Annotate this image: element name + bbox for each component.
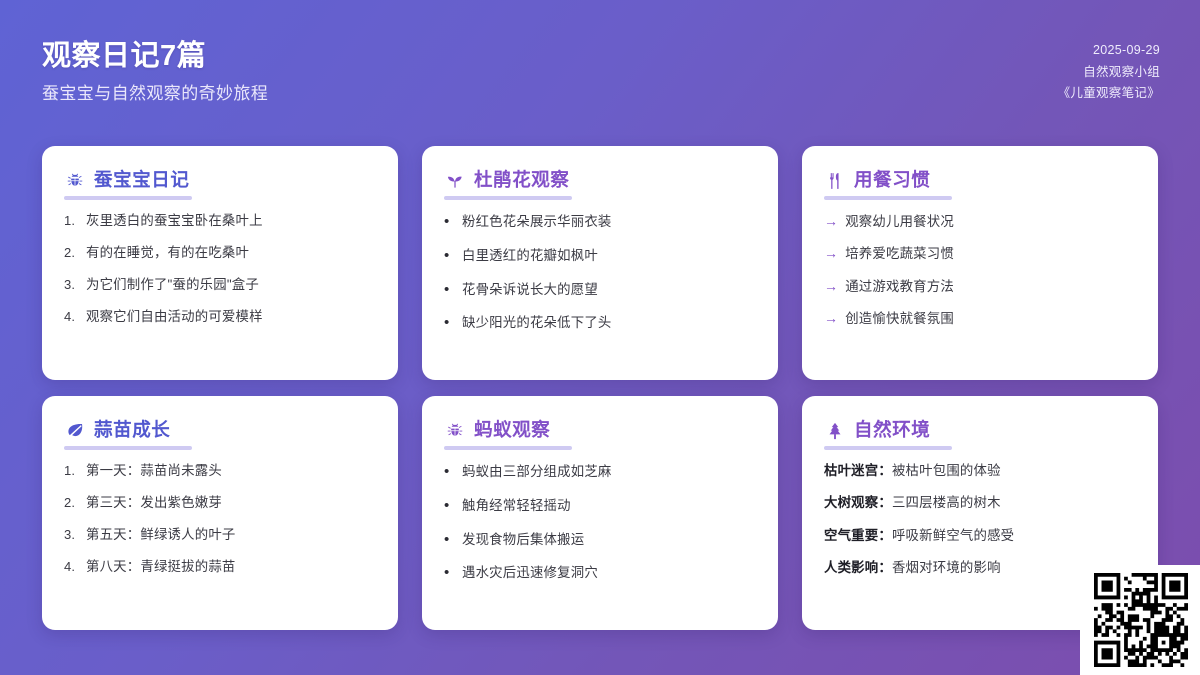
list-marker-bullet: • xyxy=(444,312,455,334)
bug-icon xyxy=(64,170,85,191)
card-4[interactable]: 蒜苗成长1.第一天：蒜苗尚未露头2.第三天：发出紫色嫩芽3.第五天：鲜绿诱人的叶… xyxy=(42,396,398,630)
list-item: •发现食物后集体搬运 xyxy=(444,529,756,551)
header-meta: 2025-09-29 自然观察小组 《儿童观察笔记》 xyxy=(1058,40,1160,105)
list-item-text: 为它们制作了"蚕的乐园"盒子 xyxy=(86,275,376,294)
list-item-text: 发现食物后集体搬运 xyxy=(462,530,756,549)
list-item: •白里透红的花瓣如枫叶 xyxy=(444,245,756,267)
list-item-text: 培养爱吃蔬菜习惯 xyxy=(845,244,1136,263)
list-item: →观察幼儿用餐状况 xyxy=(824,211,1136,231)
card-2[interactable]: 杜鹃花观察•粉红色花朵展示华丽衣装•白里透红的花瓣如枫叶•花骨朵诉说长大的愿望•… xyxy=(422,146,778,380)
card-header: 用餐习惯 xyxy=(824,170,1136,200)
definition-label: 空气重要： xyxy=(824,528,892,543)
list-item-text: 观察幼儿用餐状况 xyxy=(845,212,1136,231)
list-marker-number: 2. xyxy=(64,494,79,513)
list-item: 1.第一天：蒜苗尚未露头 xyxy=(64,461,376,481)
definition-value: 被枯叶包围的体验 xyxy=(892,463,1001,478)
card-list: 1.灰里透白的蚕宝宝卧在桑叶上2.有的在睡觉，有的在吃桑叶3.为它们制作了"蚕的… xyxy=(64,211,376,326)
definition-label: 枯叶迷宫： xyxy=(824,463,892,478)
card-5[interactable]: 蚂蚁观察•蚂蚁由三部分组成如芝麻•触角经常轻轻摇动•发现食物后集体搬运•遇水灾后… xyxy=(422,396,778,630)
definition-value: 三四层楼高的树木 xyxy=(892,495,1001,510)
bug-icon xyxy=(444,420,465,441)
definition-label: 人类影响： xyxy=(824,560,892,575)
list-marker-number: 4. xyxy=(64,558,79,577)
list-item: →创造愉快就餐氛围 xyxy=(824,308,1136,328)
card-list: 1.第一天：蒜苗尚未露头2.第三天：发出紫色嫩芽3.第五天：鲜绿诱人的叶子4.第… xyxy=(64,461,376,576)
list-marker-bullet: • xyxy=(444,245,455,267)
card-title: 用餐习惯 xyxy=(854,170,930,190)
list-item: •蚂蚁由三部分组成如芝麻 xyxy=(444,461,756,483)
arrow-icon: → xyxy=(824,211,838,231)
card-list: →观察幼儿用餐状况→培养爱吃蔬菜习惯→通过游戏教育方法→创造愉快就餐氛围 xyxy=(824,211,1136,329)
card-definition-list: 枯叶迷宫：被枯叶包围的体验大树观察：三四层楼高的树木空气重要：呼吸新鲜空气的感受… xyxy=(824,461,1136,578)
list-marker-number: 4. xyxy=(64,308,79,327)
list-item-text: 缺少阳光的花朵低下了头 xyxy=(462,313,756,332)
seedling-icon xyxy=(444,170,465,191)
list-item: 3.为它们制作了"蚕的乐园"盒子 xyxy=(64,275,376,295)
list-item: 大树观察：三四层楼高的树木 xyxy=(824,493,1136,512)
list-item-text: 第八天：青绿挺拔的蒜苗 xyxy=(86,557,376,576)
list-item-text: 第一天：蒜苗尚未露头 xyxy=(86,461,376,480)
arrow-icon: → xyxy=(824,243,838,263)
list-item-text: 有的在睡觉，有的在吃桑叶 xyxy=(86,243,376,262)
definition-value: 香烟对环境的影响 xyxy=(892,560,1001,575)
page-subtitle: 蚕宝宝与自然观察的奇妙旅程 xyxy=(42,83,268,105)
list-marker-bullet: • xyxy=(444,562,455,584)
list-item: 2.第三天：发出紫色嫩芽 xyxy=(64,493,376,513)
list-item: 1.灰里透白的蚕宝宝卧在桑叶上 xyxy=(64,211,376,231)
list-marker-bullet: • xyxy=(444,495,455,517)
list-item-text: 第五天：鲜绿诱人的叶子 xyxy=(86,525,376,544)
tree-icon xyxy=(824,420,845,441)
card-header: 自然环境 xyxy=(824,420,1136,450)
list-item: •触角经常轻轻摇动 xyxy=(444,495,756,517)
card-list: •粉红色花朵展示华丽衣装•白里透红的花瓣如枫叶•花骨朵诉说长大的愿望•缺少阳光的… xyxy=(444,211,756,334)
list-item: 空气重要：呼吸新鲜空气的感受 xyxy=(824,526,1136,545)
arrow-icon: → xyxy=(824,276,838,296)
list-item-text: 遇水灾后迅速修复洞穴 xyxy=(462,563,756,582)
qr-code-icon xyxy=(1094,573,1188,667)
list-marker-number: 3. xyxy=(64,276,79,295)
list-marker-bullet: • xyxy=(444,211,455,233)
card-header: 蚕宝宝日记 xyxy=(64,170,376,200)
card-3[interactable]: 用餐习惯→观察幼儿用餐状况→培养爱吃蔬菜习惯→通过游戏教育方法→创造愉快就餐氛围 xyxy=(802,146,1158,380)
list-marker-bullet: • xyxy=(444,529,455,551)
card-title: 蚂蚁观察 xyxy=(474,420,550,440)
list-item-text: 粉红色花朵展示华丽衣装 xyxy=(462,212,756,231)
list-marker-number: 3. xyxy=(64,526,79,545)
list-item: 枯叶迷宫：被枯叶包围的体验 xyxy=(824,461,1136,480)
card-header: 蚂蚁观察 xyxy=(444,420,756,450)
arrow-icon: → xyxy=(824,308,838,328)
list-item-text: 创造愉快就餐氛围 xyxy=(845,309,1136,328)
list-marker-number: 1. xyxy=(64,462,79,481)
definition-value: 呼吸新鲜空气的感受 xyxy=(892,528,1014,543)
meta-group: 自然观察小组 xyxy=(1083,62,1160,84)
slide-header: 观察日记7篇 蚕宝宝与自然观察的奇妙旅程 2025-09-29 自然观察小组 《… xyxy=(0,0,1200,128)
card-header: 杜鹃花观察 xyxy=(444,170,756,200)
list-marker-bullet: • xyxy=(444,461,455,483)
list-item-text: 蚂蚁由三部分组成如芝麻 xyxy=(462,462,756,481)
list-item: •粉红色花朵展示华丽衣装 xyxy=(444,211,756,233)
list-item: 3.第五天：鲜绿诱人的叶子 xyxy=(64,525,376,545)
list-item: •花骨朵诉说长大的愿望 xyxy=(444,279,756,301)
qr-code-container[interactable] xyxy=(1080,565,1200,675)
card-title: 蒜苗成长 xyxy=(94,420,170,440)
leaf-icon xyxy=(64,420,85,441)
header-left: 观察日记7篇 蚕宝宝与自然观察的奇妙旅程 xyxy=(42,38,268,105)
card-1[interactable]: 蚕宝宝日记1.灰里透白的蚕宝宝卧在桑叶上2.有的在睡觉，有的在吃桑叶3.为它们制… xyxy=(42,146,398,380)
card-header: 蒜苗成长 xyxy=(64,420,376,450)
list-item-text: 观察它们自由活动的可爱模样 xyxy=(86,307,376,326)
meta-date: 2025-09-29 xyxy=(1093,40,1160,62)
list-item: 4.观察它们自由活动的可爱模样 xyxy=(64,307,376,327)
list-marker-number: 1. xyxy=(64,212,79,231)
card-title: 蚕宝宝日记 xyxy=(94,170,190,190)
card-title: 自然环境 xyxy=(854,420,930,440)
card-list: •蚂蚁由三部分组成如芝麻•触角经常轻轻摇动•发现食物后集体搬运•遇水灾后迅速修复… xyxy=(444,461,756,584)
page-title: 观察日记7篇 xyxy=(42,38,268,74)
list-marker-number: 2. xyxy=(64,244,79,263)
card-title: 杜鹃花观察 xyxy=(474,170,570,190)
list-item-text: 第三天：发出紫色嫩芽 xyxy=(86,493,376,512)
list-item-text: 触角经常轻轻摇动 xyxy=(462,496,756,515)
list-item: •遇水灾后迅速修复洞穴 xyxy=(444,562,756,584)
definition-label: 大树观察： xyxy=(824,495,892,510)
list-item: →通过游戏教育方法 xyxy=(824,276,1136,296)
list-marker-bullet: • xyxy=(444,279,455,301)
cutlery-icon xyxy=(824,170,845,191)
list-item: •缺少阳光的花朵低下了头 xyxy=(444,312,756,334)
list-item-text: 通过游戏教育方法 xyxy=(845,277,1136,296)
list-item: 4.第八天：青绿挺拔的蒜苗 xyxy=(64,557,376,577)
meta-source: 《儿童观察笔记》 xyxy=(1058,83,1160,105)
card-grid: 蚕宝宝日记1.灰里透白的蚕宝宝卧在桑叶上2.有的在睡觉，有的在吃桑叶3.为它们制… xyxy=(42,146,1159,630)
list-item: →培养爱吃蔬菜习惯 xyxy=(824,243,1136,263)
list-item: 2.有的在睡觉，有的在吃桑叶 xyxy=(64,243,376,263)
list-item-text: 灰里透白的蚕宝宝卧在桑叶上 xyxy=(86,211,376,230)
list-item-text: 花骨朵诉说长大的愿望 xyxy=(462,280,756,299)
list-item-text: 白里透红的花瓣如枫叶 xyxy=(462,246,756,265)
